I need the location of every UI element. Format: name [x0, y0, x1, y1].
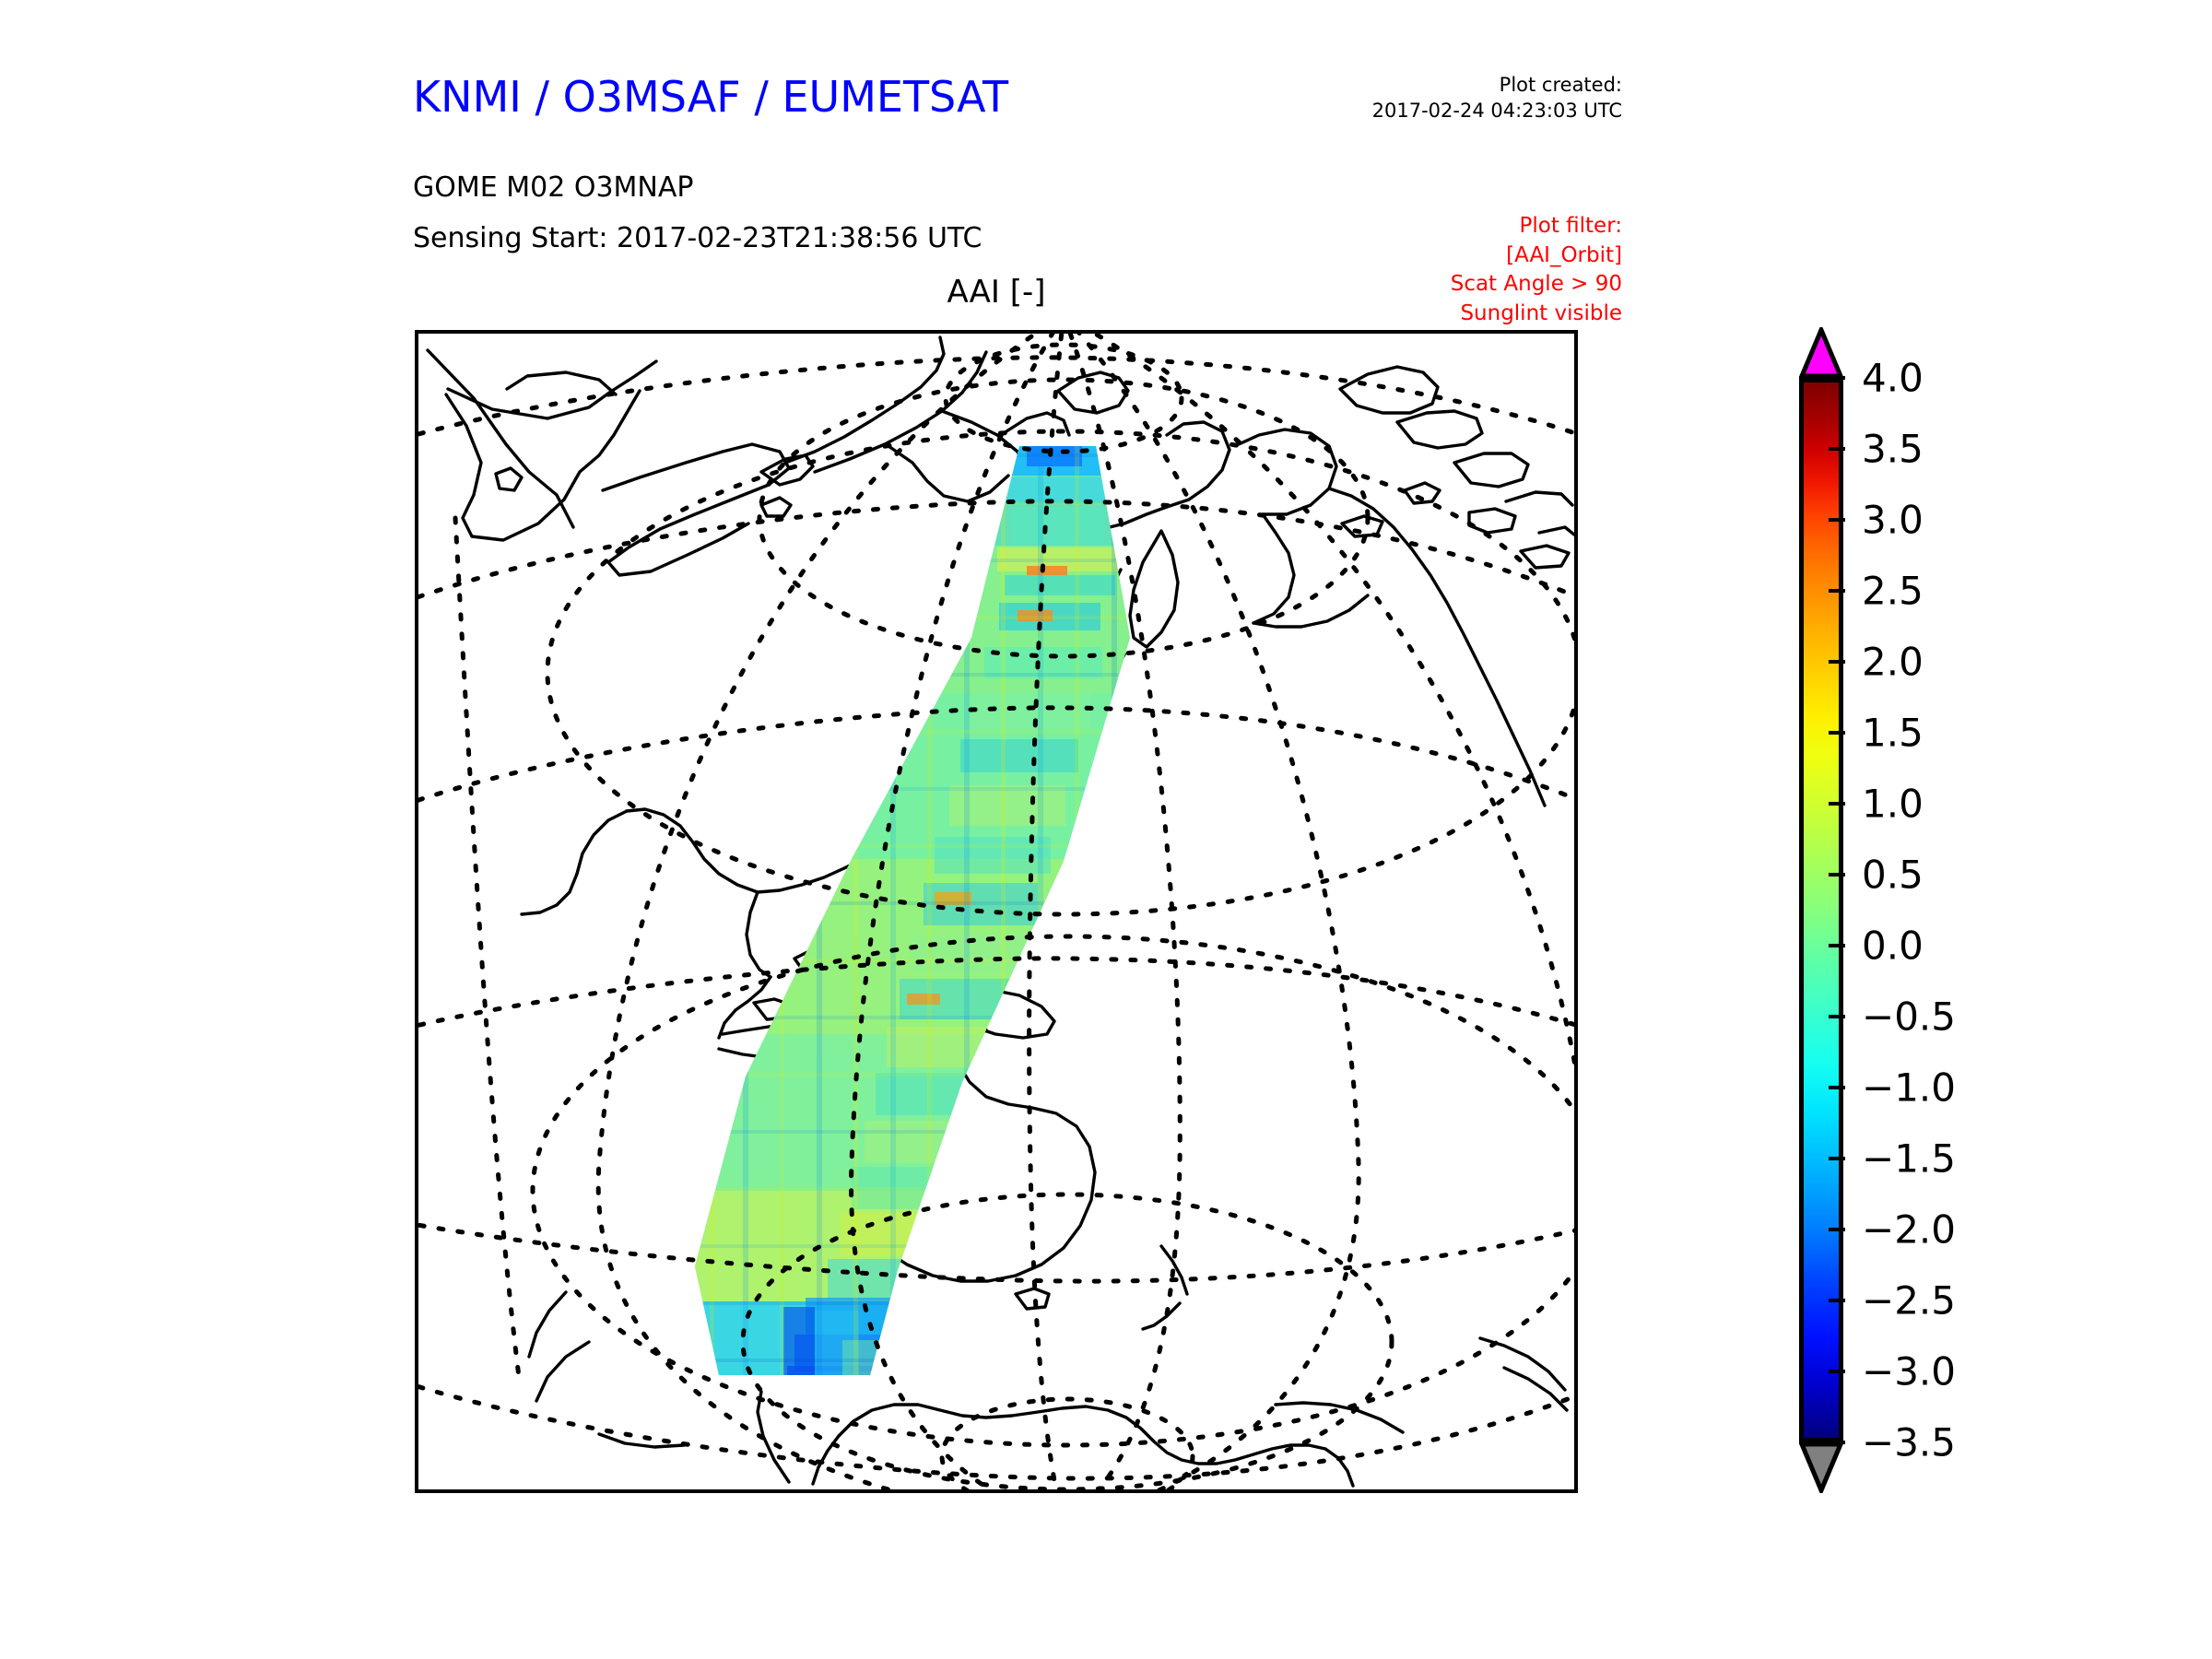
plot-created-label: Plot created: [1372, 72, 1622, 98]
colorbar-under-arrow-icon [1799, 1441, 1843, 1493]
colorbar-tick-label: 3.5 [1862, 427, 1924, 472]
colorbar-tick [1829, 731, 1845, 735]
colorbar-tick [1829, 1086, 1845, 1089]
colorbar-tick [1829, 660, 1845, 664]
plot-filter-label: Plot filter: [1451, 212, 1622, 241]
colorbar-tick-label: 1.0 [1862, 782, 1924, 827]
plot-created-timestamp: 2017-02-24 04:23:03 UTC [1372, 98, 1622, 124]
colorbar-over-arrow-icon [1799, 327, 1843, 379]
colorbar-tick-label: −1.0 [1862, 1065, 1956, 1111]
colorbar-tick-label: −2.5 [1862, 1278, 1956, 1324]
colorbar-tick [1829, 447, 1845, 451]
colorbar-tick [1829, 873, 1845, 877]
colorbar-tick [1829, 1370, 1845, 1373]
colorbar-tick-label: 0.5 [1862, 853, 1924, 898]
graticule [418, 334, 1574, 1489]
colorbar-tick [1829, 1157, 1845, 1160]
colorbar-gradient[interactable] [1799, 378, 1843, 1442]
colorbar-tick [1829, 589, 1845, 593]
sensing-start: Sensing Start: 2017-02-23T21:38:56 UTC [413, 222, 982, 254]
plot-filter-block: Plot filter: [AAI_Orbit] Scat Angle > 90… [1451, 212, 1622, 329]
colorbar-tick [1829, 1299, 1845, 1302]
colorbar-tick-label: 2.5 [1862, 569, 1924, 614]
colorbar-tick-label: −0.5 [1862, 994, 1956, 1040]
colorbar-tick-label: 1.5 [1862, 711, 1924, 756]
map-canvas [418, 334, 1574, 1489]
map-plot-area[interactable] [415, 330, 1578, 1493]
colorbar-tick-label: −1.5 [1862, 1136, 1956, 1182]
colorbar[interactable]: 4.03.53.02.52.01.51.00.50.0−0.5−1.0−1.5−… [1795, 324, 2183, 1504]
colorbar-tick-label: 0.0 [1862, 924, 1924, 969]
colorbar-tick-label: 3.0 [1862, 498, 1924, 543]
colorbar-tick [1829, 802, 1845, 806]
chart-title: AAI [-] [415, 274, 1578, 311]
colorbar-tick-label: −2.0 [1862, 1207, 1956, 1253]
colorbar-tick [1829, 1228, 1845, 1231]
plot-created-block: Plot created: 2017-02-24 04:23:03 UTC [1372, 72, 1622, 124]
colorbar-tick [1829, 518, 1845, 522]
colorbar-tick [1829, 376, 1845, 380]
plot-filter-name: [AAI_Orbit] [1451, 241, 1622, 271]
colorbar-tick-label: 4.0 [1862, 356, 1924, 401]
colorbar-tick-label: −3.0 [1862, 1349, 1956, 1394]
colorbar-tick-label: 2.0 [1862, 640, 1924, 685]
colorbar-tick [1829, 944, 1845, 947]
organisation-title: KNMI / O3MSAF / EUMETSAT [413, 72, 1008, 122]
product-name: GOME M02 O3MNAP [413, 171, 693, 204]
colorbar-tick-label: −3.5 [1862, 1420, 1956, 1465]
colorbar-tick [1829, 1015, 1845, 1018]
colorbar-tick [1829, 1441, 1845, 1444]
